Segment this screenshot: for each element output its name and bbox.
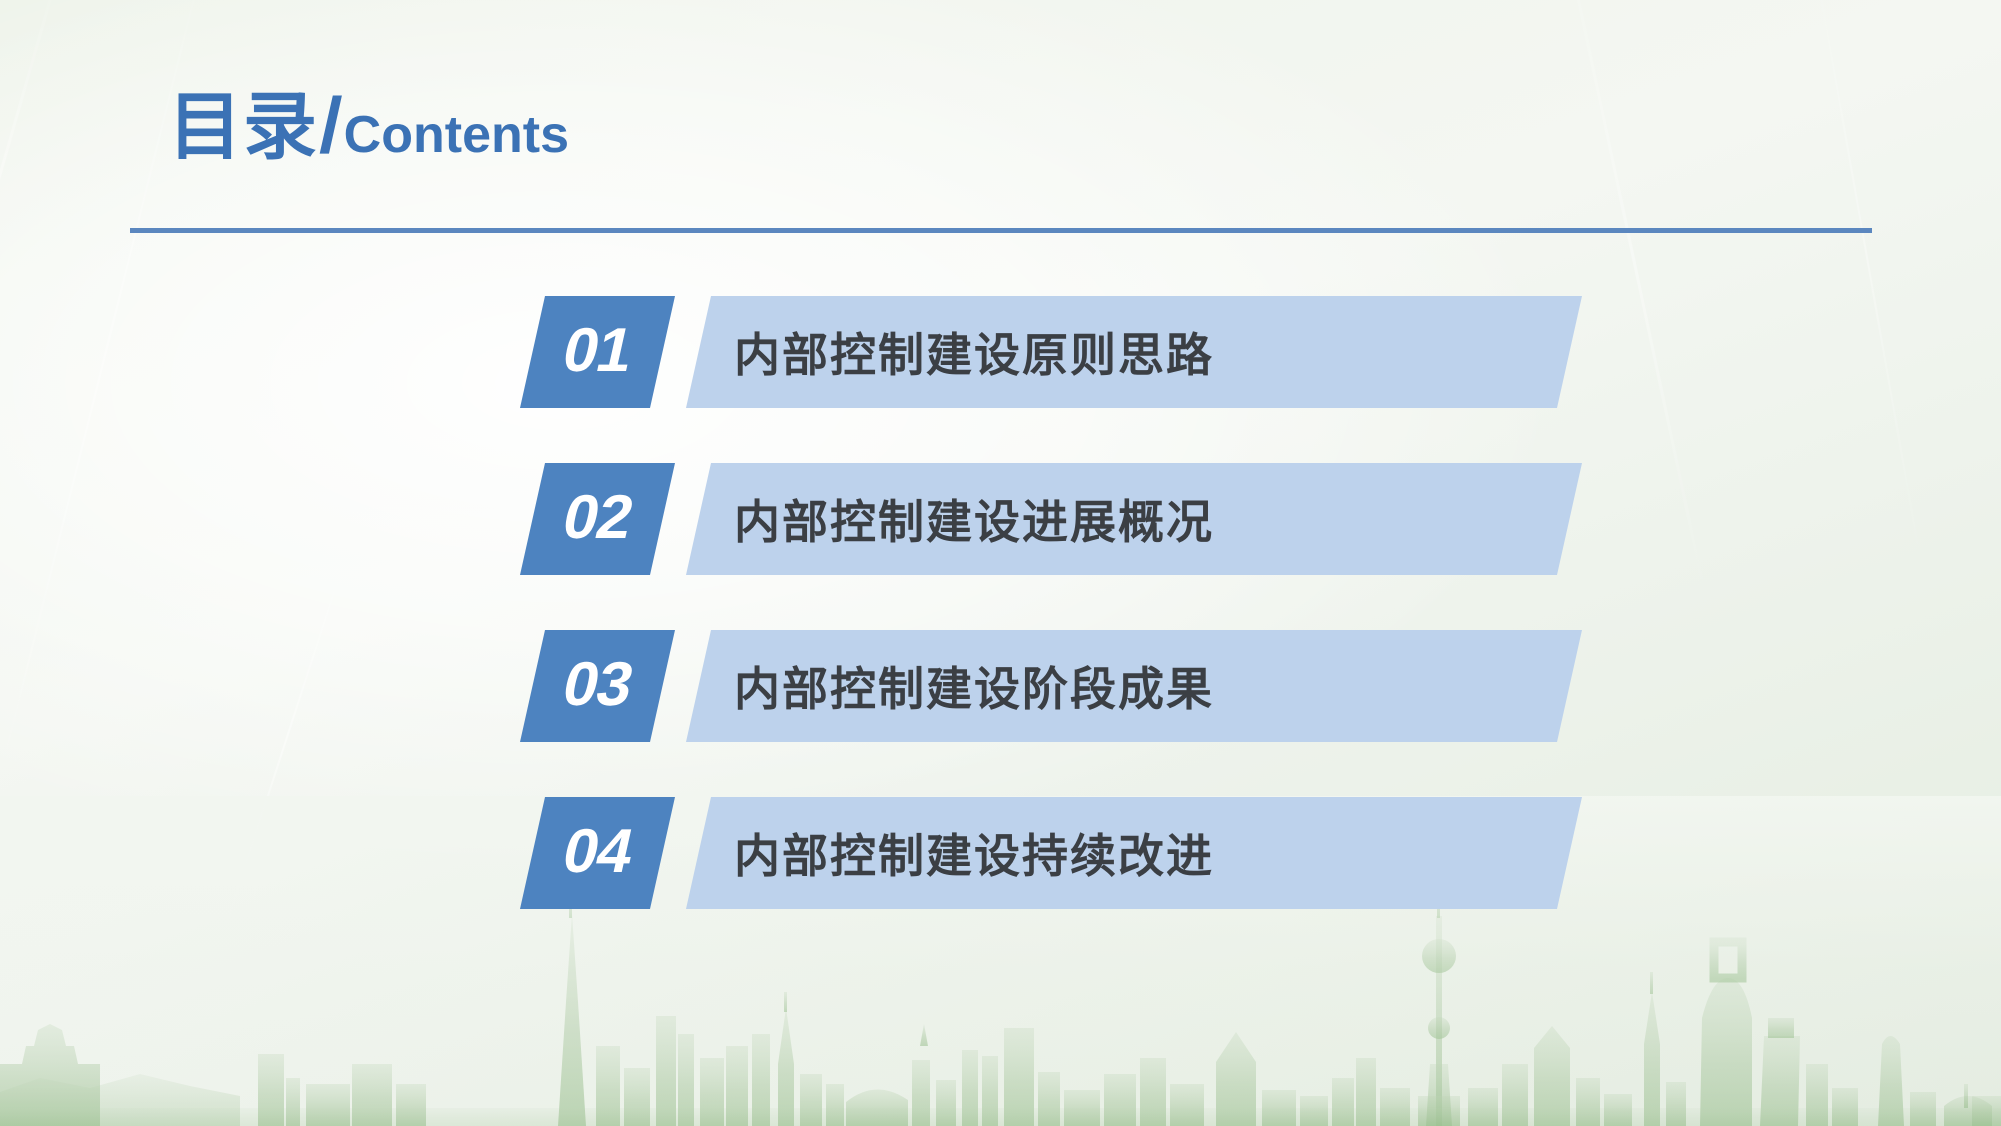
contents-number-label: 03 <box>557 654 638 718</box>
contents-item-03[interactable]: 03 内部控制建设阶段成果 <box>0 630 2001 742</box>
page-title: 目录 / Contents <box>168 86 569 164</box>
contents-number-label: 01 <box>557 320 638 384</box>
contents-item-02[interactable]: 02 内部控制建设进展概况 <box>0 463 2001 575</box>
page-title-cn: 目录 <box>168 90 318 164</box>
contents-list: 01 内部控制建设原则思路 02 内部控制建设进展概况 03 内部控制建设阶段成… <box>0 296 2001 909</box>
contents-item-label: 内部控制建设原则思路 <box>734 319 1214 385</box>
contents-number-badge: 01 <box>520 296 675 408</box>
contents-number-label: 04 <box>557 821 638 885</box>
contents-number-label: 02 <box>557 487 638 551</box>
contents-label-bar[interactable]: 内部控制建设持续改进 <box>686 797 1582 909</box>
contents-item-04[interactable]: 04 内部控制建设持续改进 <box>0 797 2001 909</box>
contents-item-label: 内部控制建设进展概况 <box>734 486 1214 552</box>
contents-number-badge: 04 <box>520 797 675 909</box>
contents-number-badge: 02 <box>520 463 675 575</box>
title-separator-slash: / <box>319 86 343 164</box>
title-divider <box>130 228 1872 233</box>
contents-item-01[interactable]: 01 内部控制建设原则思路 <box>0 296 2001 408</box>
contents-slide: 目录 / Contents 01 内部控制建设原则思路 02 内部控制建设进展概… <box>0 0 2001 1126</box>
contents-item-label: 内部控制建设持续改进 <box>734 820 1214 886</box>
contents-label-bar[interactable]: 内部控制建设阶段成果 <box>686 630 1582 742</box>
contents-number-badge: 03 <box>520 630 675 742</box>
contents-label-bar[interactable]: 内部控制建设原则思路 <box>686 296 1582 408</box>
contents-item-label: 内部控制建设阶段成果 <box>734 653 1214 719</box>
page-title-en: Contents <box>344 109 569 161</box>
contents-label-bar[interactable]: 内部控制建设进展概况 <box>686 463 1582 575</box>
